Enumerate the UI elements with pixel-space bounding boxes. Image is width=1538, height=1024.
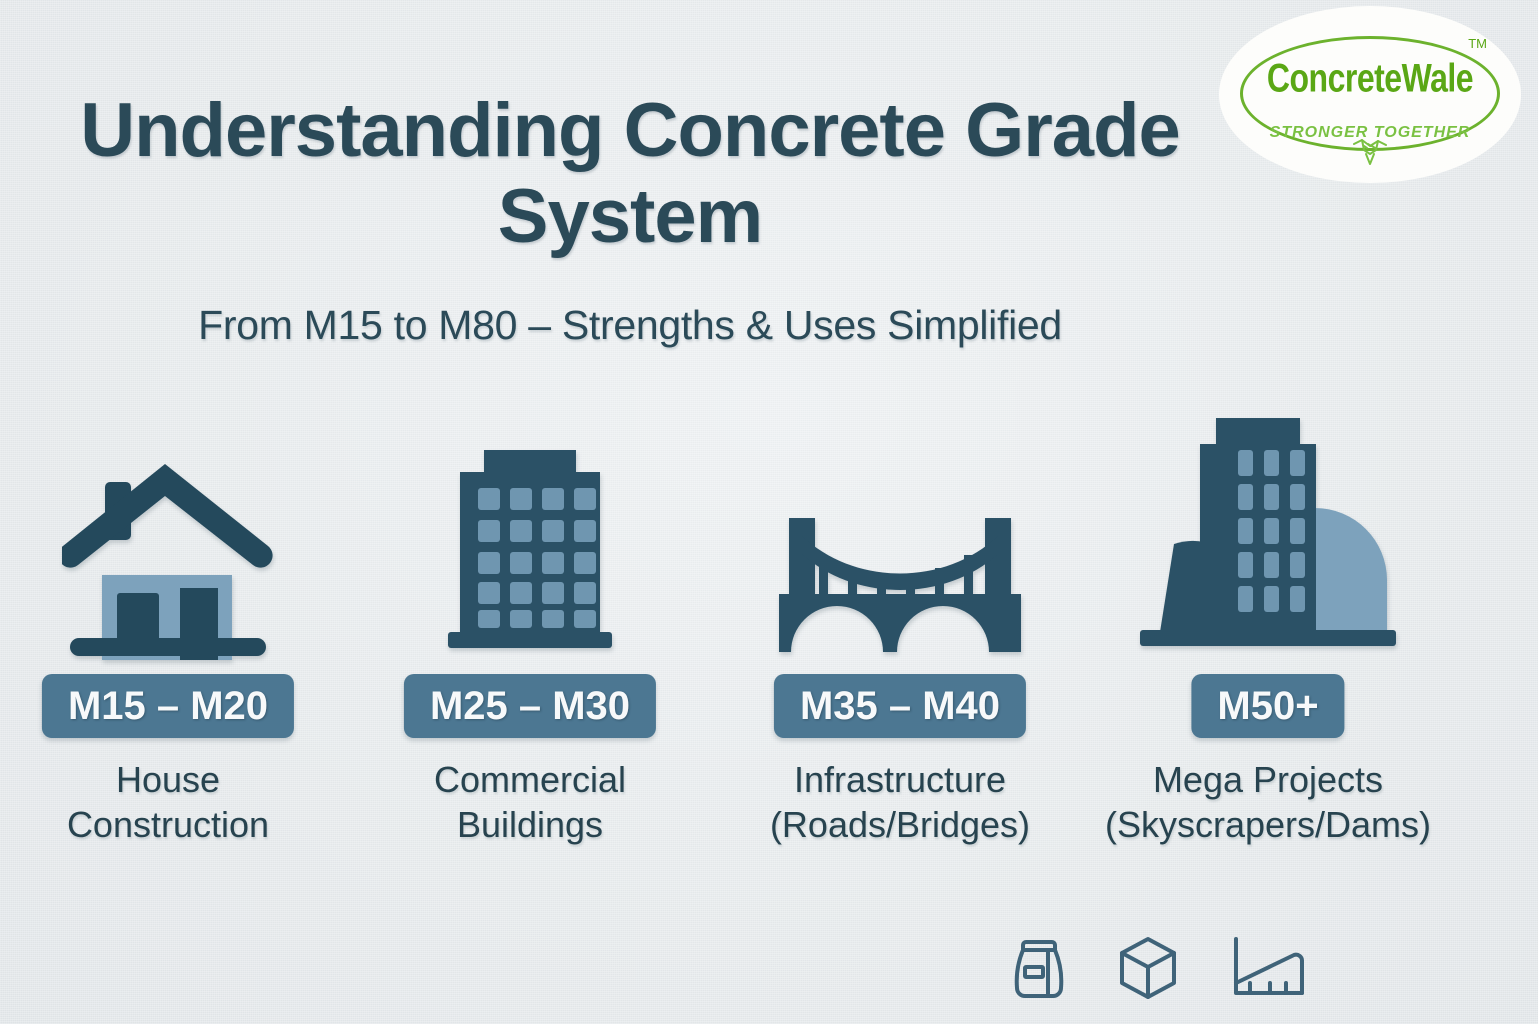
bridge-icon (775, 510, 1025, 660)
cement-bag-icon (1010, 932, 1068, 1004)
grade-caption-1: House Construction (0, 758, 348, 847)
grade-badge-2[interactable]: M25 – M30 (404, 674, 656, 738)
concrete-cube-icon (1116, 933, 1180, 1003)
trademark-icon: TM (1468, 36, 1487, 51)
grade-step-m25-m30[interactable]: M25 – M30 Commercial Buildings (370, 370, 690, 870)
skyscraper-dam-icon (1130, 388, 1406, 660)
page-title: Understanding Concrete Grade System (60, 88, 1200, 260)
house-icon (62, 460, 274, 660)
grade-badge-3[interactable]: M35 – M40 (774, 674, 1026, 738)
grade-badge-4[interactable]: M50+ (1191, 674, 1344, 738)
grade-step-m35-m40[interactable]: M35 – M40 Infrastructure (Roads/Bridges) (740, 370, 1060, 870)
ramp-structure-icon (1228, 935, 1308, 1001)
brand-logo: ConcreteWale TM STRONGER TOGETHER (1219, 6, 1521, 183)
grade-timeline: M15 – M20 House Construction (0, 370, 1538, 870)
grade-caption-3: Infrastructure (Roads/Bridges) (720, 758, 1080, 847)
grade-step-m50-plus[interactable]: M50+ Mega Projects (Skyscrapers/Dams) (1108, 370, 1428, 870)
house-icon-wrap (8, 370, 328, 660)
grade-caption-4: Mega Projects (Skyscrapers/Dams) (1088, 758, 1448, 847)
grade-caption-2: Commercial Buildings (350, 758, 710, 847)
bridge-icon-wrap (740, 370, 1060, 660)
infographic-canvas: ConcreteWale TM STRONGER TOGETHER Unders… (0, 0, 1538, 1024)
skyscraper-dam-icon-wrap (1108, 370, 1428, 660)
material-icon-strip (1010, 928, 1360, 1008)
grade-badge-1[interactable]: M15 – M20 (42, 674, 294, 738)
office-building-icon-wrap (370, 370, 690, 660)
office-building-icon (440, 410, 620, 660)
logo-brand-text: ConcreteWale (1219, 55, 1521, 101)
grade-step-m15-m20[interactable]: M15 – M20 House Construction (8, 370, 328, 870)
page-subtitle: From M15 to M80 – Strengths & Uses Simpl… (60, 302, 1200, 349)
handshake-icon (1350, 134, 1390, 174)
